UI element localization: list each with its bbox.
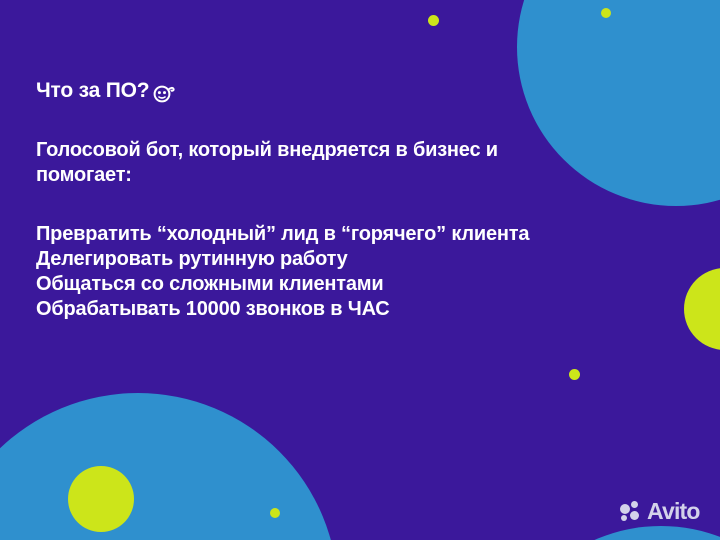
decorative-circle-yellow-right [684, 268, 720, 350]
decorative-dot-top-center [428, 15, 439, 26]
decorative-circle-blue-bottom-right [496, 526, 720, 540]
decorative-circle-yellow-bottom-left [68, 466, 134, 532]
avito-brand-text: Avito [647, 500, 700, 523]
robot-face-icon [151, 79, 177, 105]
page-title: Что за ПО? [36, 78, 596, 104]
slide-lede: Голосовой бот, который внедряется в бизн… [36, 138, 576, 188]
avito-watermark: Avito [620, 500, 700, 523]
page-title-text: Что за ПО? [36, 78, 149, 104]
decorative-circle-blue-bottom-left [0, 393, 338, 540]
decorative-dot-mid-right [569, 369, 580, 380]
slide-text-block: Что за ПО? Голосовой бот, который внедря… [36, 78, 596, 322]
decorative-dot-top-right [601, 8, 611, 18]
avito-logo-icon [620, 501, 642, 523]
list-item: Обрабатывать 10000 звонков в ЧАС [36, 297, 556, 322]
benefit-list: Превратить “холодный” лид в “горячего” к… [36, 222, 596, 322]
list-item: Общаться со сложными клиентами [36, 272, 556, 297]
slide-canvas: Что за ПО? Голосовой бот, который внедря… [0, 0, 720, 540]
list-item: Превратить “холодный” лид в “горячего” к… [36, 222, 556, 247]
list-item: Делегировать рутинную работу [36, 247, 556, 272]
decorative-dot-bottom-left [270, 508, 280, 518]
